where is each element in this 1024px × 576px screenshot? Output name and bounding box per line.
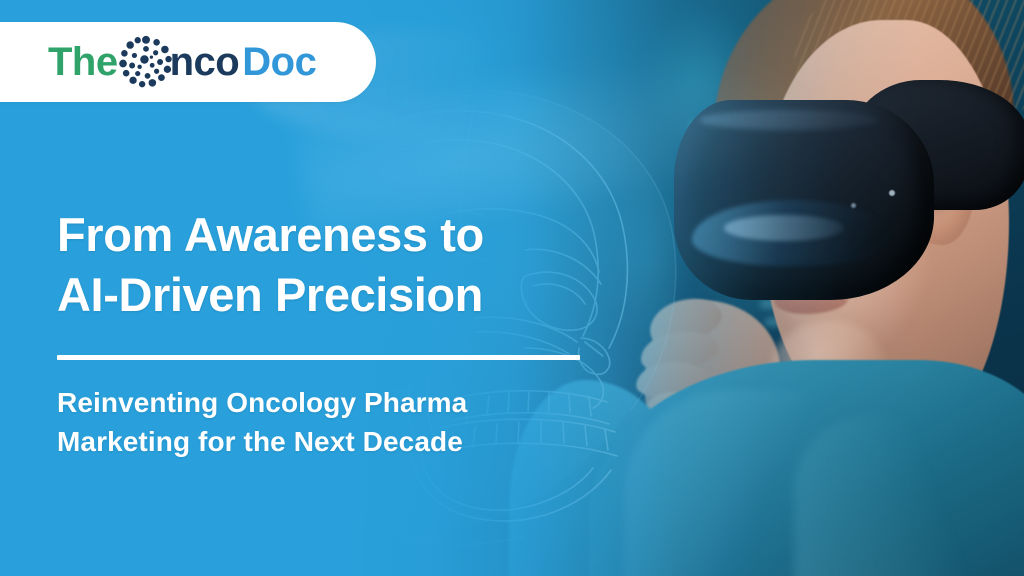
logo-text-nco: nco xyxy=(170,42,240,82)
logo-text-doc: Doc xyxy=(242,42,316,82)
copy-block: From Awareness to AI-Driven Precision Re… xyxy=(57,205,677,462)
logo-pill[interactable]: The xyxy=(0,22,376,102)
subheadline: Reinventing Oncology Pharma Marketing fo… xyxy=(57,384,677,461)
promotional-banner: The xyxy=(0,0,1024,576)
cell-cluster-icon xyxy=(119,35,173,89)
logo-text-the: The xyxy=(48,42,118,82)
divider-rule xyxy=(57,355,580,360)
logo-lockup: The xyxy=(48,35,316,89)
headline: From Awareness to AI-Driven Precision xyxy=(57,205,677,324)
